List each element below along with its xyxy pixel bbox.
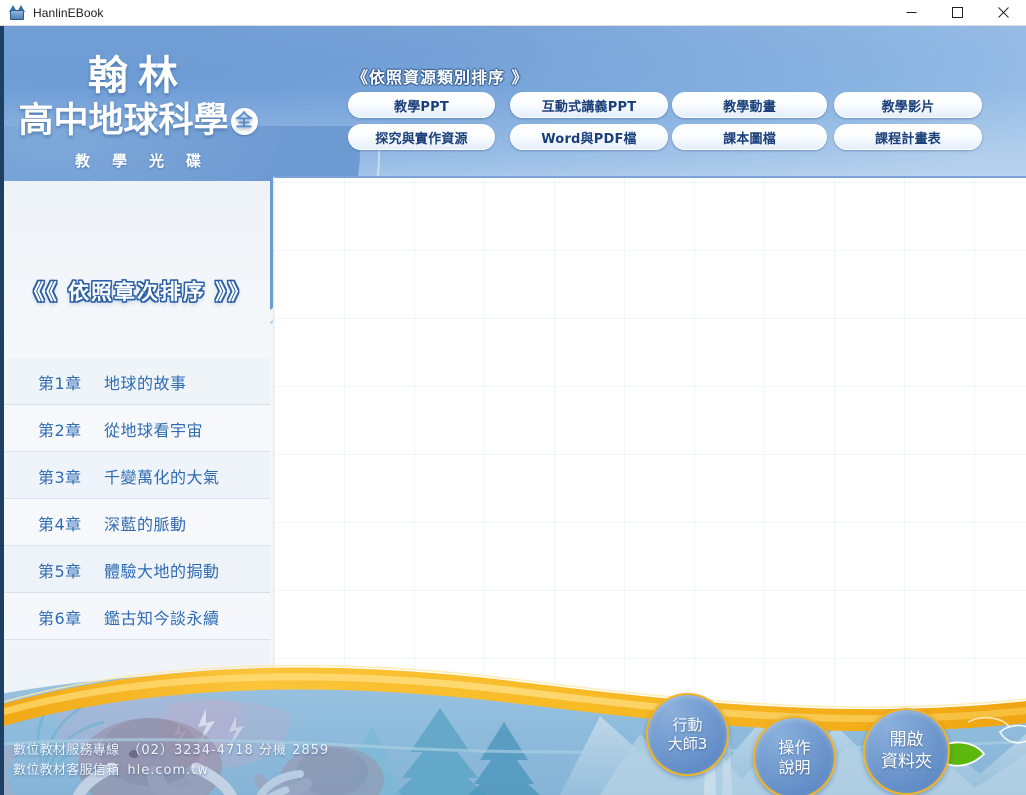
footer-hotline-label: 數位教材服務專線	[13, 743, 119, 758]
main-content-panel	[273, 176, 1026, 795]
footer-mail-value[interactable]: hle.com.tw	[127, 763, 209, 778]
category-button-animation[interactable]: 教學動畫	[672, 92, 827, 118]
category-button-word-pdf[interactable]: Word與PDF檔	[510, 124, 668, 150]
chapter-name: 地球的故事	[104, 370, 187, 394]
category-button-textbook-images[interactable]: 課本圖檔	[672, 124, 827, 150]
window-controls	[888, 0, 1026, 26]
window-title: HanlinEBook	[33, 6, 103, 20]
circle-button-line1: 操作	[778, 738, 810, 758]
chapter-number: 第1章	[38, 370, 104, 394]
maximize-icon[interactable]	[934, 0, 980, 26]
chapter-number: 第4章	[38, 511, 104, 535]
category-button-grid: 教學PPT 互動式講義PPT 教學動畫 教學影片 探究與實作資源 Word與PD…	[348, 92, 1008, 150]
circle-button-instructions[interactable]: 操作 說明	[753, 716, 836, 795]
logo-subtitle: 教學光碟	[0, 150, 276, 171]
product-logo: 翰林 高中地球科學全 教學光碟	[0, 56, 276, 171]
chapter-name: 從地球看宇宙	[104, 417, 203, 441]
circle-button-line2: 大師3	[668, 735, 708, 754]
left-edge-strip	[0, 26, 4, 795]
category-button-course-plan[interactable]: 課程計畫表	[834, 124, 982, 150]
footer-contact-info: 數位教材服務專線（02）3234-4718 分機 2859 數位教材客服信箱hl…	[13, 741, 329, 781]
chapter-item-1[interactable]: 第1章 地球的故事	[4, 358, 270, 405]
circle-button-line1: 行動	[672, 716, 702, 735]
close-icon[interactable]	[980, 0, 1026, 26]
circle-button-open-folder[interactable]: 開啟 資料夾	[863, 708, 950, 795]
category-sort-title: 《依照資源類別排序 》	[352, 64, 529, 88]
application-root: 翰林 高中地球科學全 教學光碟 《依照資源類別排序 》 教學PPT 互動式講義P…	[0, 26, 1026, 795]
chapter-list: 第1章 地球的故事 第2章 從地球看宇宙 第3章 千變萬化的大氣 第4章 深藍的…	[4, 358, 270, 640]
chapter-name: 深藍的脈動	[104, 511, 187, 535]
circle-button-line1: 開啟	[890, 730, 924, 751]
logo-brand: 翰林	[0, 56, 276, 96]
chapter-sort-title: 《《 依照章次排序 》》	[4, 276, 270, 306]
chapter-name: 體驗大地的挶動	[104, 558, 220, 582]
chapter-number: 第2章	[38, 417, 104, 441]
footer-mail-row: 數位教材客服信箱hle.com.tw	[13, 761, 329, 781]
circle-button-line2: 說明	[778, 758, 810, 778]
footer-hotline-value: （02）3234-4718 分機 2859	[127, 743, 329, 758]
footer-hotline-row: 數位教材服務專線（02）3234-4718 分機 2859	[13, 741, 329, 761]
minimize-icon[interactable]	[888, 0, 934, 26]
chapter-item-4[interactable]: 第4章 深藍的脈動	[4, 499, 270, 546]
logo-badge: 全	[231, 108, 258, 135]
window-titlebar: HanlinEBook	[0, 0, 1026, 26]
chapter-item-5[interactable]: 第5章 體驗大地的挶動	[4, 546, 270, 593]
category-button-teaching-ppt[interactable]: 教學PPT	[348, 92, 495, 118]
category-button-inquiry-resources[interactable]: 探究與實作資源	[348, 124, 495, 150]
chapter-item-6[interactable]: 第6章 鑑古知今談永續	[4, 593, 270, 640]
app-icon	[9, 5, 25, 21]
logo-product-line: 高中地球科學全	[0, 102, 276, 141]
circle-button-mobile-master[interactable]: 行動 大師3	[646, 693, 729, 776]
chapter-name: 鑑古知今談永續	[104, 605, 220, 629]
circle-button-line2: 資料夾	[881, 752, 932, 773]
category-button-video[interactable]: 教學影片	[834, 92, 982, 118]
chapter-number: 第3章	[38, 464, 104, 488]
chapter-item-3[interactable]: 第3章 千變萬化的大氣	[4, 452, 270, 499]
chapter-item-2[interactable]: 第2章 從地球看宇宙	[4, 405, 270, 452]
chapter-number: 第5章	[38, 558, 104, 582]
category-button-interactive-ppt[interactable]: 互動式講義PPT	[510, 92, 668, 118]
chapter-number: 第6章	[38, 605, 104, 629]
logo-product: 高中地球科學	[18, 102, 228, 141]
chapter-name: 千變萬化的大氣	[104, 464, 220, 488]
footer-mail-label: 數位教材客服信箱	[13, 763, 119, 778]
